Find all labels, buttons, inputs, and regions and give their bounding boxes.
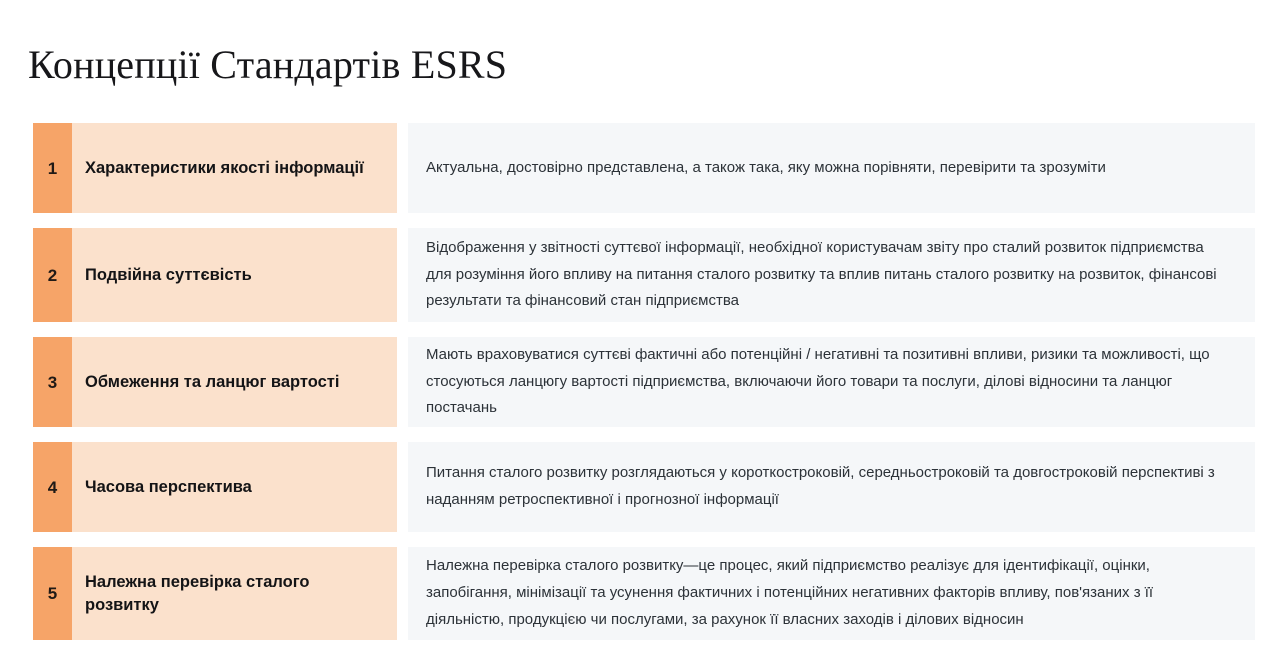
- concept-description-panel: Відображення у звітності суттєвої інформ…: [408, 228, 1255, 322]
- concept-card: 1 Характеристики якості інформації: [33, 123, 397, 213]
- concept-description: Належна перевірка сталого розвитку—це пр…: [426, 553, 1231, 633]
- concept-card: 4 Часова перспектива: [33, 442, 397, 532]
- concept-label: Характеристики якості інформації: [72, 157, 397, 179]
- page-title: Концепції Стандартів ESRS: [28, 41, 507, 88]
- concept-description-panel: Мають враховуватися суттєві фактичні або…: [408, 337, 1255, 427]
- concepts-list: 1 Характеристики якості інформації Актуа…: [0, 123, 1280, 640]
- concept-row: 2 Подвійна суттєвість Відображення у зві…: [0, 228, 1280, 322]
- concept-row: 5 Належна перевірка сталого розвитку Нал…: [0, 547, 1280, 640]
- concept-number: 1: [48, 160, 57, 177]
- concept-number: 3: [48, 374, 57, 391]
- concept-label: Обмеження та ланцюг вартості: [72, 371, 397, 393]
- concept-card: 5 Належна перевірка сталого розвитку: [33, 547, 397, 640]
- concept-card: 3 Обмеження та ланцюг вартості: [33, 337, 397, 427]
- concept-description-panel: Належна перевірка сталого розвитку—це пр…: [408, 547, 1255, 640]
- concept-number-strip: 5: [33, 547, 72, 640]
- concept-number-strip: 3: [33, 337, 72, 427]
- concept-row: 4 Часова перспектива Питання сталого роз…: [0, 442, 1280, 532]
- concept-label: Часова перспектива: [72, 476, 397, 498]
- concept-description-panel: Питання сталого розвитку розглядаються у…: [408, 442, 1255, 532]
- concept-description: Питання сталого розвитку розглядаються у…: [426, 460, 1231, 513]
- concept-number-strip: 4: [33, 442, 72, 532]
- concept-number: 2: [48, 267, 57, 284]
- esrs-concepts-page: Концепції Стандартів ESRS 1 Характеристи…: [0, 0, 1280, 665]
- concept-row: 3 Обмеження та ланцюг вартості Мають вра…: [0, 337, 1280, 427]
- concept-card: 2 Подвійна суттєвість: [33, 228, 397, 322]
- concept-label: Належна перевірка сталого розвитку: [72, 571, 397, 616]
- concept-description: Актуальна, достовірно представлена, а та…: [426, 155, 1106, 182]
- concept-row: 1 Характеристики якості інформації Актуа…: [0, 123, 1280, 213]
- concept-description: Відображення у звітності суттєвої інформ…: [426, 235, 1231, 315]
- concept-label: Подвійна суттєвість: [72, 264, 397, 286]
- concept-description-panel: Актуальна, достовірно представлена, а та…: [408, 123, 1255, 213]
- concept-description: Мають враховуватися суттєві фактичні або…: [426, 342, 1231, 422]
- concept-number: 5: [48, 585, 57, 602]
- concept-number-strip: 2: [33, 228, 72, 322]
- concept-number-strip: 1: [33, 123, 72, 213]
- concept-number: 4: [48, 479, 57, 496]
